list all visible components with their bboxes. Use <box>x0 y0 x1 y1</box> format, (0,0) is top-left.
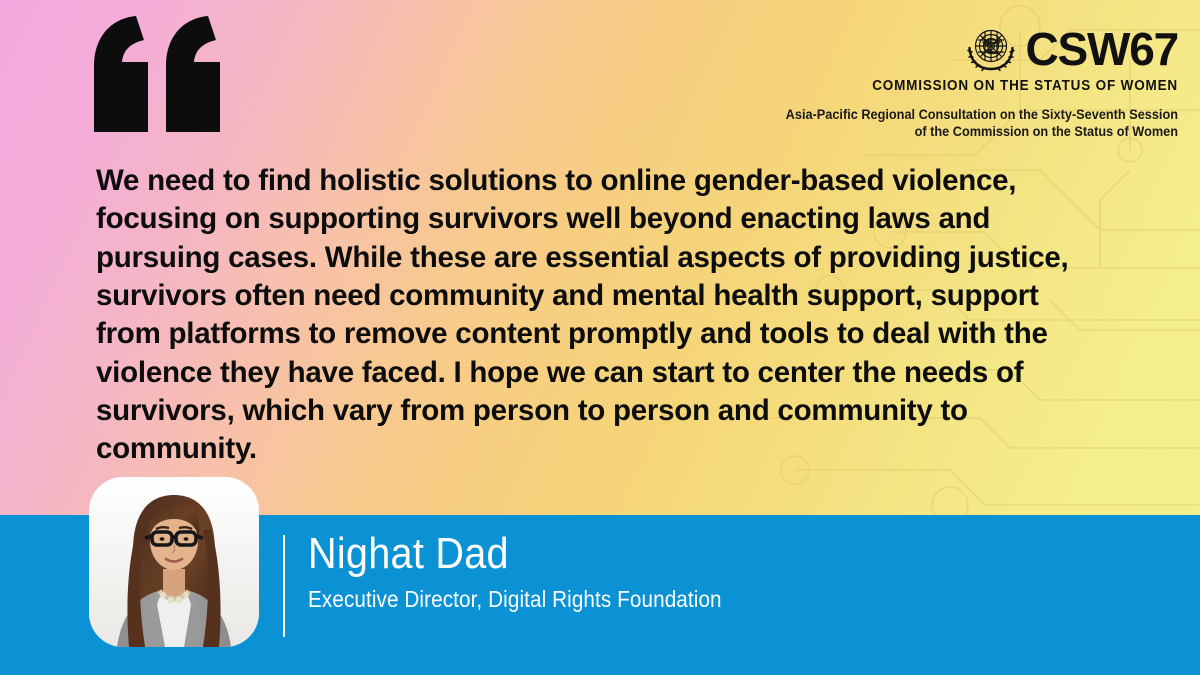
un-emblem-icon <box>962 24 1020 74</box>
csw67-logo-block: CSW67 COMMISSION ON THE STATUS OF WOMEN … <box>758 24 1178 141</box>
event-title: Asia-Pacific Regional Consultation on th… <box>779 107 1178 141</box>
event-title-line-2: of the Commission on the Status of Women <box>779 124 1178 141</box>
speaker-divider <box>283 535 285 637</box>
logo-row: CSW67 <box>758 24 1178 74</box>
event-title-line-1: Asia-Pacific Regional Consultation on th… <box>779 107 1178 124</box>
speaker-title: Executive Director, Digital Rights Found… <box>308 586 722 613</box>
quote-text: We need to find holistic solutions to on… <box>96 162 1071 469</box>
speaker-info: Nighat Dad Executive Director, Digital R… <box>308 532 768 613</box>
csw67-subtitle: COMMISSION ON THE STATUS OF WOMEN <box>787 78 1178 94</box>
quote-card: CSW67 COMMISSION ON THE STATUS OF WOMEN … <box>0 0 1200 675</box>
speaker-portrait <box>89 477 259 647</box>
csw67-wordmark: CSW67 <box>1026 28 1179 70</box>
speaker-name: Nighat Dad <box>308 532 722 577</box>
open-quote-icon <box>92 14 222 134</box>
